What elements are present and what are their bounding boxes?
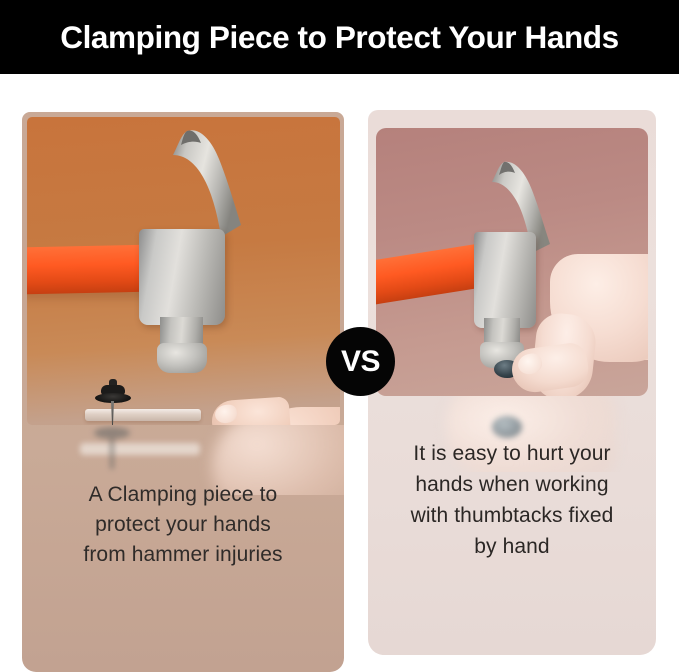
hammer-face	[157, 343, 207, 373]
caption-left: A Clamping piece to protect your hands f…	[30, 480, 336, 570]
comparison-stage: A Clamping piece to protect your hands f…	[0, 74, 679, 634]
vs-badge: VS	[326, 327, 395, 396]
caption-left-line-1: A Clamping piece to	[30, 480, 336, 510]
hammer-with-clamping-piece-photo	[27, 117, 340, 425]
comparison-panel-right: It is easy to hurt your hands when worki…	[368, 110, 656, 655]
caption-right-line-1: It is easy to hurt your	[378, 438, 646, 469]
caption-left-line-2: protect your hands	[30, 510, 336, 540]
blurred-thumbtack-pin	[110, 435, 114, 469]
caption-right-line-2: hands when working	[378, 469, 646, 500]
hammer-head	[139, 229, 225, 325]
caption-right-line-3: with thumbtacks fixed	[378, 500, 646, 531]
bare-hand-holding-thumbtack	[506, 254, 648, 396]
caption-left-line-3: from hammer injuries	[30, 540, 336, 570]
hand-holding-clamping-strip	[212, 385, 340, 425]
caption-right: It is easy to hurt your hands when worki…	[378, 438, 646, 562]
page-title: Clamping Piece to Protect Your Hands	[60, 19, 619, 56]
thumbtack-pin	[111, 401, 114, 425]
hammer-handle	[27, 245, 147, 295]
blurred-thumbtack	[94, 425, 130, 473]
caption-right-line-4: by hand	[378, 531, 646, 562]
vs-badge-label: VS	[341, 345, 380, 379]
thumbtack	[93, 385, 133, 425]
comparison-panel-left: A Clamping piece to protect your hands f…	[22, 112, 344, 672]
hammer-striking-hand-held-thumbtack-photo	[376, 128, 648, 396]
blurred-thumbtack	[492, 416, 522, 438]
hammer-claw	[159, 125, 265, 241]
header-banner: Clamping Piece to Protect Your Hands	[0, 0, 679, 74]
